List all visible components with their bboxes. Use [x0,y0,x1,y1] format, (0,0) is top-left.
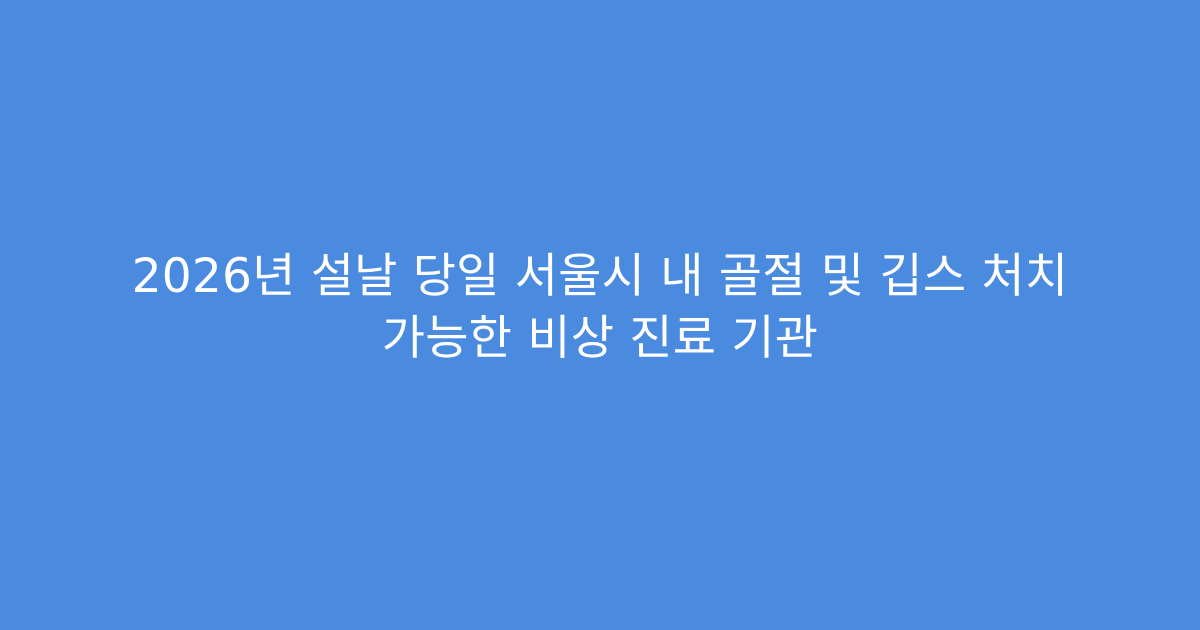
title-line-2: 가능한 비상 진료 기관 [90,308,1110,370]
page-title: 2026년 설날 당일 서울시 내 골절 및 깁스 처치 가능한 비상 진료 기… [70,246,1130,370]
title-line-1: 2026년 설날 당일 서울시 내 골절 및 깁스 처치 [90,246,1110,308]
og-image-card: 2026년 설날 당일 서울시 내 골절 및 깁스 처치 가능한 비상 진료 기… [0,0,1200,630]
